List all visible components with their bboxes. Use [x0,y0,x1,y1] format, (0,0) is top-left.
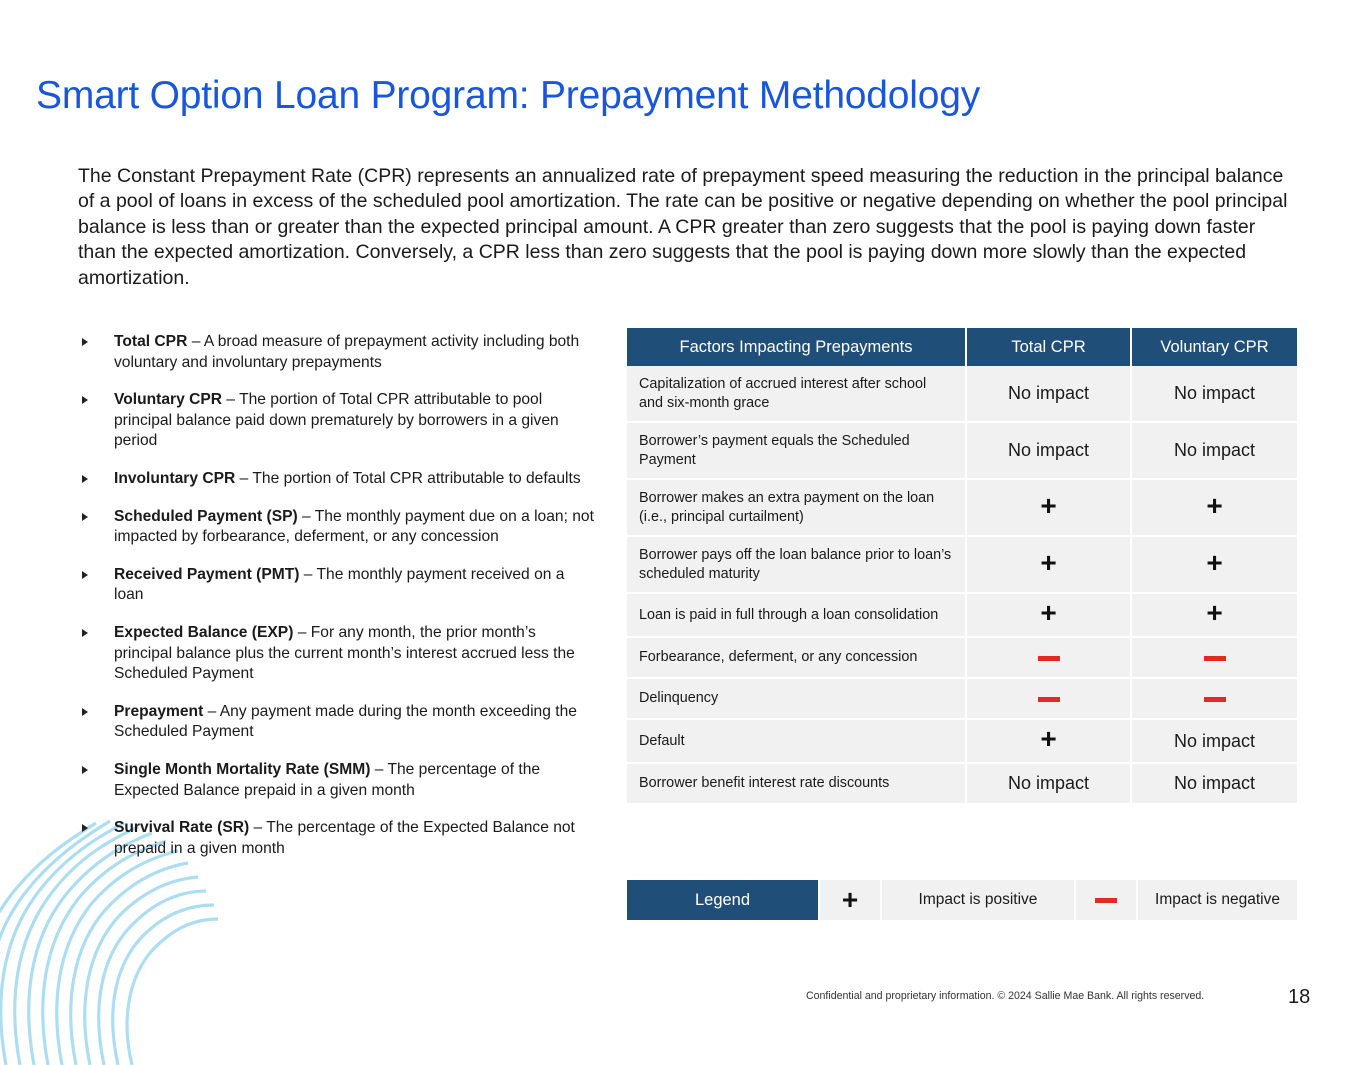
voluntary-cpr-cell: No impact [1132,764,1297,803]
plus-symbol: + [842,890,858,910]
table-row: Delinquency [627,679,1297,720]
minus-symbol [1204,656,1226,661]
definition-term: Voluntary CPR [114,391,222,408]
definition-term: Received Payment (PMT) [114,566,299,583]
legend-title: Legend [627,880,818,920]
definition-term: Expected Balance (EXP) [114,624,293,641]
factor-cell: Capitalization of accrued interest after… [627,366,967,423]
factor-cell: Delinquency [627,679,967,720]
legend-plus-icon: + [818,880,880,920]
table-row: Borrower makes an extra payment on the l… [627,480,1297,537]
list-item: Survival Rate (SR) – The percentage of t… [78,818,598,859]
column-header-factor: Factors Impacting Prepayments [627,328,967,366]
total-cpr-cell: + [967,537,1132,594]
voluntary-cpr-cell: + [1132,594,1297,638]
plus-symbol: + [1040,603,1056,623]
table-row: Capitalization of accrued interest after… [627,366,1297,423]
total-cpr-cell: + [967,480,1132,537]
definition-dash: – [298,508,315,525]
list-item: Scheduled Payment (SP) – The monthly pay… [78,507,598,548]
triangle-bullet-icon [82,475,88,483]
definition-dash: – [249,819,266,836]
total-cpr-cell: + [967,720,1132,764]
definition-term: Survival Rate (SR) [114,819,249,836]
footer-confidentiality-note: Confidential and proprietary information… [806,990,1204,1002]
legend-minus-icon [1074,880,1136,920]
plus-symbol: + [1206,553,1222,573]
triangle-bullet-icon [82,396,88,404]
intro-paragraph: The Constant Prepayment Rate (CPR) repre… [78,164,1288,291]
definition-description: The portion of Total CPR attributable to… [252,470,580,487]
list-item: Prepayment – Any payment made during the… [78,702,598,743]
triangle-bullet-icon [82,629,88,637]
minus-symbol [1038,656,1060,661]
factor-cell: Borrower pays off the loan balance prior… [627,537,967,594]
list-item: Expected Balance (EXP) – For any month, … [78,623,598,685]
column-header-total-cpr: Total CPR [967,328,1132,366]
factor-cell: Borrower benefit interest rate discounts [627,764,967,803]
definition-dash: – [203,703,219,720]
list-item: Single Month Mortality Rate (SMM) – The … [78,760,598,801]
triangle-bullet-icon [82,513,88,521]
total-cpr-cell [967,679,1132,720]
triangle-bullet-icon [82,766,88,774]
definition-dash: – [235,470,252,487]
definitions-list: Total CPR – A broad measure of prepaymen… [78,332,598,859]
total-cpr-cell: No impact [967,423,1132,480]
total-cpr-cell: + [967,594,1132,638]
voluntary-cpr-cell: No impact [1132,423,1297,480]
voluntary-cpr-cell [1132,679,1297,720]
voluntary-cpr-cell: No impact [1132,720,1297,764]
table-row: Borrower benefit interest rate discounts… [627,764,1297,803]
legend-bar: Legend + Impact is positive Impact is ne… [627,880,1297,920]
table-row: Forbearance, deferment, or any concessio… [627,638,1297,679]
page-title: Smart Option Loan Program: Prepayment Me… [36,73,980,119]
column-header-voluntary-cpr: Voluntary CPR [1132,328,1297,366]
table-row: Loan is paid in full through a loan cons… [627,594,1297,638]
page-number: 18 [1288,986,1310,1009]
factor-cell: Borrower’s payment equals the Scheduled … [627,423,967,480]
plus-symbol: + [1206,496,1222,516]
definition-dash: – [222,391,239,408]
triangle-bullet-icon [82,338,88,346]
plus-symbol: + [1040,496,1056,516]
total-cpr-cell [967,638,1132,679]
factor-cell: Loan is paid in full through a loan cons… [627,594,967,638]
table-row: Borrower’s payment equals the Scheduled … [627,423,1297,480]
definition-dash: – [187,333,203,350]
definition-term: Involuntary CPR [114,470,235,487]
definition-term: Total CPR [114,333,187,350]
plus-symbol: + [1206,603,1222,623]
total-cpr-cell: No impact [967,366,1132,423]
legend-positive-label: Impact is positive [880,880,1074,920]
factor-cell: Default [627,720,967,764]
triangle-bullet-icon [82,824,88,832]
definition-term: Single Month Mortality Rate (SMM) [114,761,370,778]
voluntary-cpr-cell: No impact [1132,366,1297,423]
minus-symbol [1038,697,1060,702]
total-cpr-cell: No impact [967,764,1132,803]
triangle-bullet-icon [82,708,88,716]
factor-cell: Borrower makes an extra payment on the l… [627,480,967,537]
factors-impacting-prepayments-table: Factors Impacting Prepayments Total CPR … [627,328,1297,803]
definition-dash: – [370,761,387,778]
plus-symbol: + [1040,729,1056,749]
plus-symbol: + [1040,553,1056,573]
triangle-bullet-icon [82,571,88,579]
minus-symbol [1095,898,1117,903]
definition-term: Scheduled Payment (SP) [114,508,298,525]
minus-symbol [1204,697,1226,702]
legend-negative-label: Impact is negative [1136,880,1297,920]
list-item: Involuntary CPR – The portion of Total C… [78,469,598,490]
voluntary-cpr-cell [1132,638,1297,679]
definition-dash: – [293,624,310,641]
voluntary-cpr-cell: + [1132,480,1297,537]
table-row: Borrower pays off the loan balance prior… [627,537,1297,594]
factor-cell: Forbearance, deferment, or any concessio… [627,638,967,679]
list-item: Total CPR – A broad measure of prepaymen… [78,332,598,373]
definition-term: Prepayment [114,703,203,720]
table-row: Default+No impact [627,720,1297,764]
list-item: Voluntary CPR – The portion of Total CPR… [78,390,598,452]
table-header-row: Factors Impacting Prepayments Total CPR … [627,328,1297,366]
voluntary-cpr-cell: + [1132,537,1297,594]
definition-dash: – [299,566,316,583]
list-item: Received Payment (PMT) – The monthly pay… [78,565,598,606]
